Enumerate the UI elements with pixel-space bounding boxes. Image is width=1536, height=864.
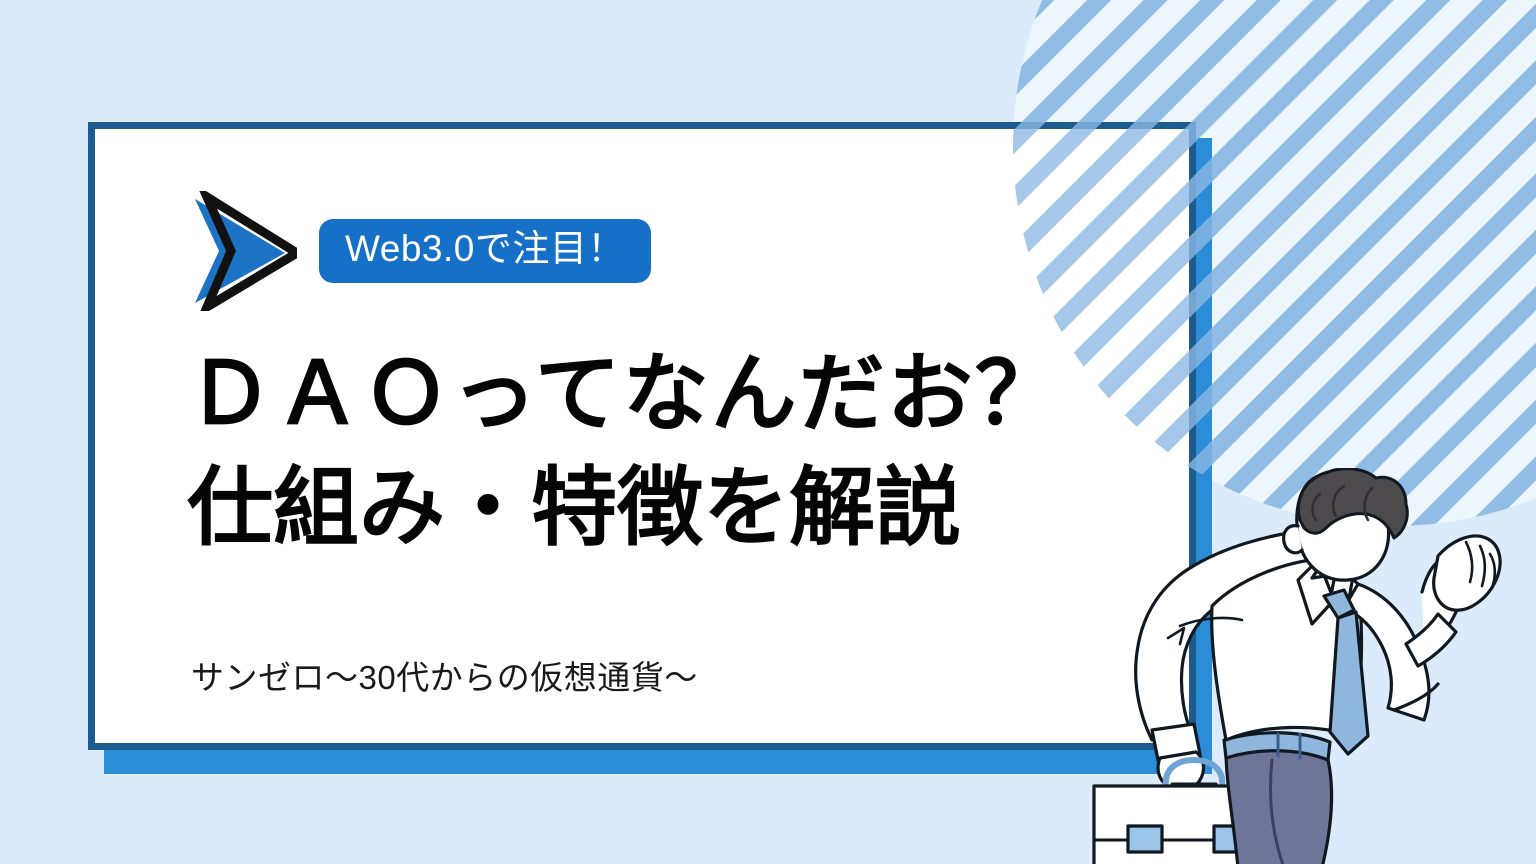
page-title: ＤＡＯってなんだお？ 仕組み・特徴を解説	[187, 337, 1063, 566]
page-title-line-1: ＤＡＯってなんだお？	[187, 337, 1063, 451]
content-card: Web3.0で注目！ ＤＡＯってなんだお？ 仕組み・特徴を解説 サンゼロ〜30代…	[88, 122, 1196, 750]
page-title-line-2: 仕組み・特徴を解説	[187, 451, 1063, 565]
businessman-illustration	[1072, 468, 1536, 864]
badge-label: Web3.0で注目！	[319, 219, 651, 283]
chevron-arrow-icon	[185, 191, 297, 311]
thumbnail-canvas: Web3.0で注目！ ＤＡＯってなんだお？ 仕組み・特徴を解説 サンゼロ〜30代…	[0, 0, 1536, 864]
subtitle-text: サンゼロ〜30代からの仮想通貨〜	[191, 651, 698, 699]
badge-row: Web3.0で注目！	[185, 191, 651, 311]
